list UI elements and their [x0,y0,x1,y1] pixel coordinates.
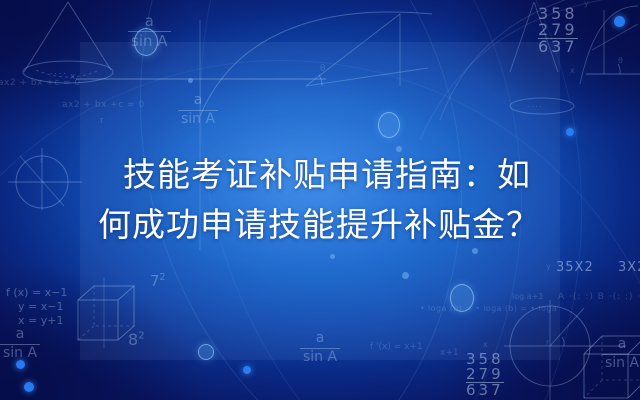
title-block: 技能考证补贴申请指南：如 何成功申请技能提升补贴金？ [0,0,640,400]
banner: · · · · a sin A ax2 + bx +c = 0 r x θ ax… [0,0,640,400]
title-line-1: 技能考证补贴申请指南：如 [123,150,531,200]
title-line-2: 何成功申请技能提升补贴金？ [98,200,540,250]
